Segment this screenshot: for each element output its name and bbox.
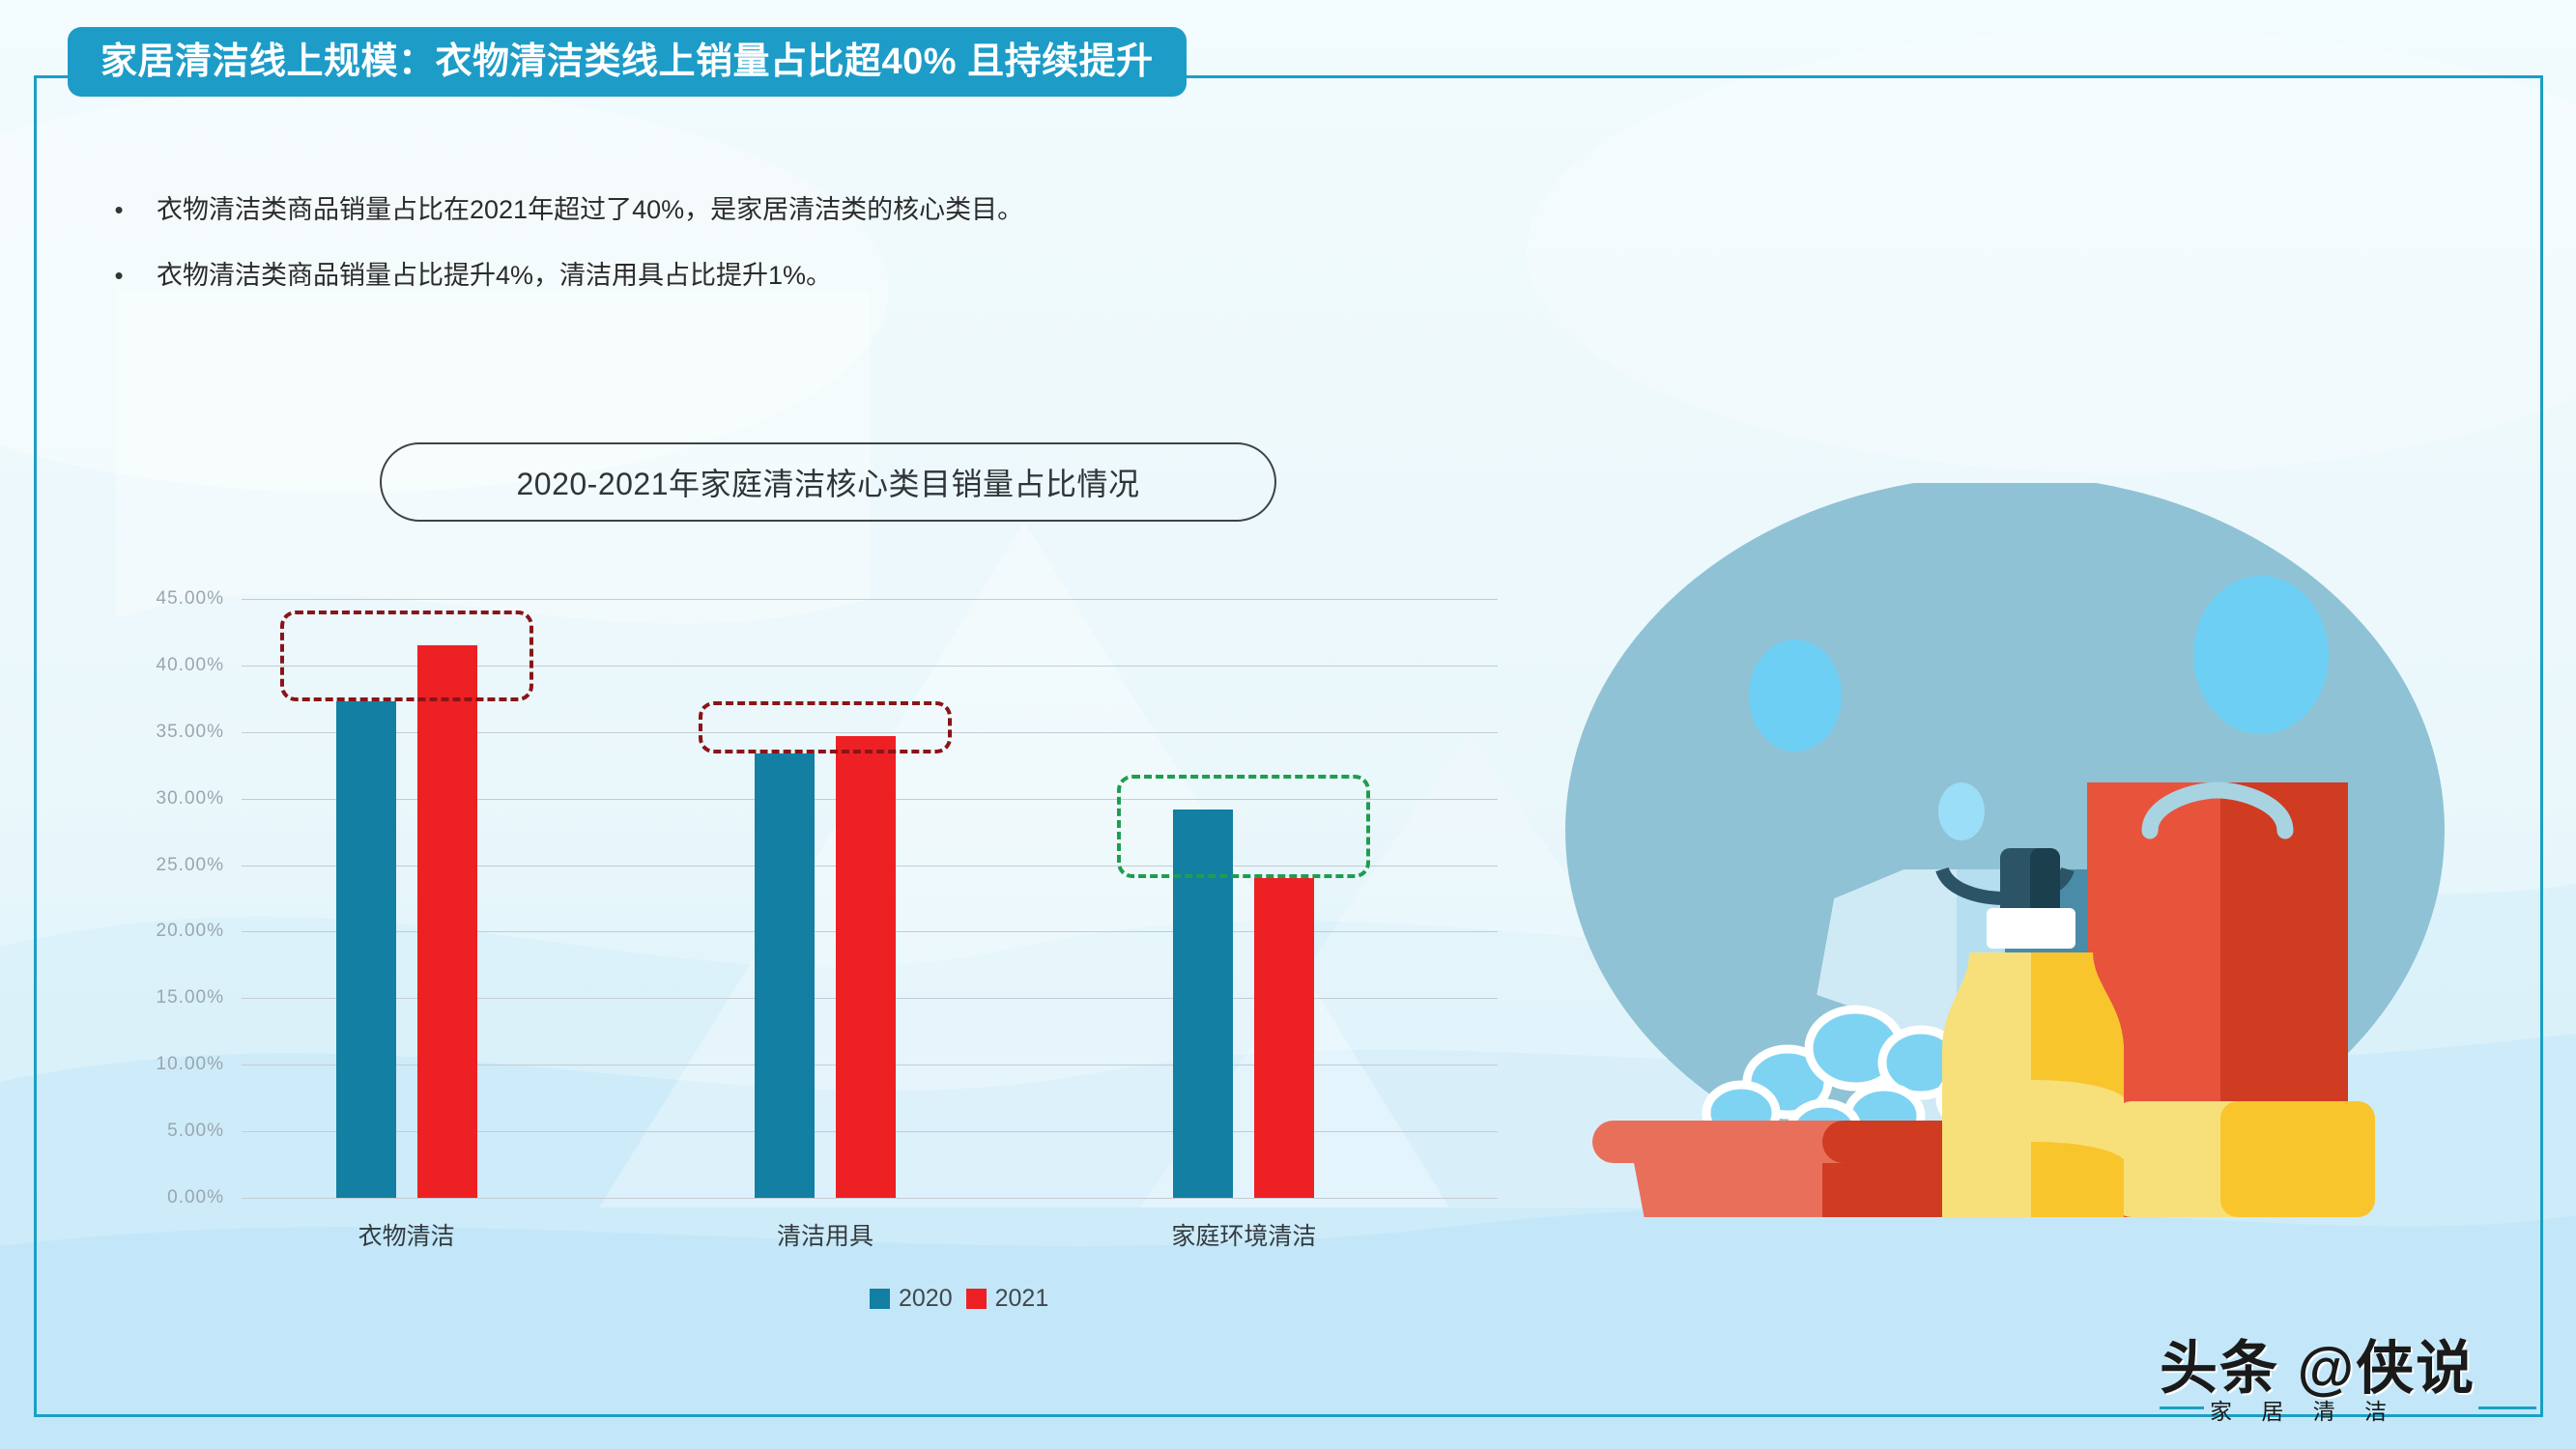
y-axis-tick-label: 35.00% [157, 722, 224, 743]
y-axis-tick-label: 30.00% [157, 788, 224, 810]
watermark-rule-left [2160, 1406, 2204, 1409]
y-axis-tick-label: 10.00% [157, 1054, 224, 1075]
y-axis-tick-label: 40.00% [157, 655, 224, 676]
bubble-icon [1749, 639, 1842, 752]
y-axis-tick-label: 25.00% [157, 855, 224, 876]
bubble-icon [1938, 782, 1985, 840]
highlight-home-environment [1117, 775, 1370, 879]
bullet-text: 衣物清洁类商品销量占比提升4%，清洁用具占比提升1%。 [157, 255, 832, 296]
watermark-sub-text: 家 居 清 洁 [2210, 1393, 2398, 1426]
y-axis-tick-label: 5.00% [167, 1121, 224, 1142]
bar-2021-清洁用具 [836, 736, 896, 1198]
page-title: 家居清洁线上规模：衣物清洁类线上销量占比超40% 且持续提升 [100, 43, 1154, 80]
bar-2020-清洁用具 [755, 753, 815, 1198]
bullet-list: • 衣物清洁类商品销量占比在2021年超过了40%，是家居清洁类的核心类目。 •… [108, 189, 1558, 321]
bullet-marker-icon: • [108, 255, 129, 296]
bullet-item: • 衣物清洁类商品销量占比在2021年超过了40%，是家居清洁类的核心类目。 [108, 189, 1558, 230]
chart-plot-area: 45.00%40.00%35.00%30.00%25.00%20.00%15.0… [242, 599, 1498, 1198]
bullet-item: • 衣物清洁类商品销量占比提升4%，清洁用具占比提升1%。 [108, 255, 1558, 296]
highlight-clothing-cleaning [280, 611, 533, 701]
legend-item-2020[interactable]: 2020 [870, 1285, 953, 1313]
highlight-cleaning-tools [699, 701, 952, 753]
x-axis-tick-label: 衣物清洁 [358, 1217, 455, 1252]
x-axis-tick-label: 家庭环境清洁 [1171, 1217, 1316, 1252]
bar-2020-衣物清洁 [336, 701, 396, 1198]
y-axis-tick-label: 0.00% [167, 1187, 224, 1208]
chart-title-pill: 2020-2021年家庭清洁核心类目销量占比情况 [380, 442, 1276, 522]
legend-swatch-icon [870, 1289, 890, 1309]
legend-label: 2021 [995, 1285, 1049, 1313]
legend-label: 2020 [899, 1285, 953, 1313]
home-cleaning-products-illustration [1517, 483, 2493, 1217]
wash-basin-icon [1592, 1121, 1990, 1217]
bubble-icon [2193, 576, 2329, 734]
slide-title-bar: 家居清洁线上规模：衣物清洁类线上销量占比超40% 且持续提升 [68, 27, 1187, 97]
gridline [242, 599, 1498, 600]
x-axis-tick-label: 清洁用具 [777, 1217, 873, 1252]
legend-item-2021[interactable]: 2021 [966, 1285, 1049, 1313]
y-axis-tick-label: 15.00% [157, 987, 224, 1009]
gridline [242, 1198, 1498, 1199]
y-axis-tick-label: 45.00% [157, 588, 224, 610]
legend-swatch-icon [966, 1289, 987, 1309]
bar-2021-衣物清洁 [417, 645, 477, 1198]
bullet-marker-icon: • [108, 189, 129, 230]
bar-2021-家庭环境清洁 [1254, 878, 1314, 1198]
watermark-rule-right [2478, 1406, 2536, 1409]
y-axis-tick-label: 20.00% [157, 921, 224, 942]
detergent-box-icon [2087, 782, 2375, 1217]
watermark: 头条 @侠说 家 居 清 洁 [2160, 1321, 2546, 1437]
bullet-text: 衣物清洁类商品销量占比在2021年超过了40%，是家居清洁类的核心类目。 [157, 189, 1023, 230]
chart-title: 2020-2021年家庭清洁核心类目销量占比情况 [516, 460, 1139, 504]
chart-legend: 20202021 [870, 1285, 1048, 1313]
